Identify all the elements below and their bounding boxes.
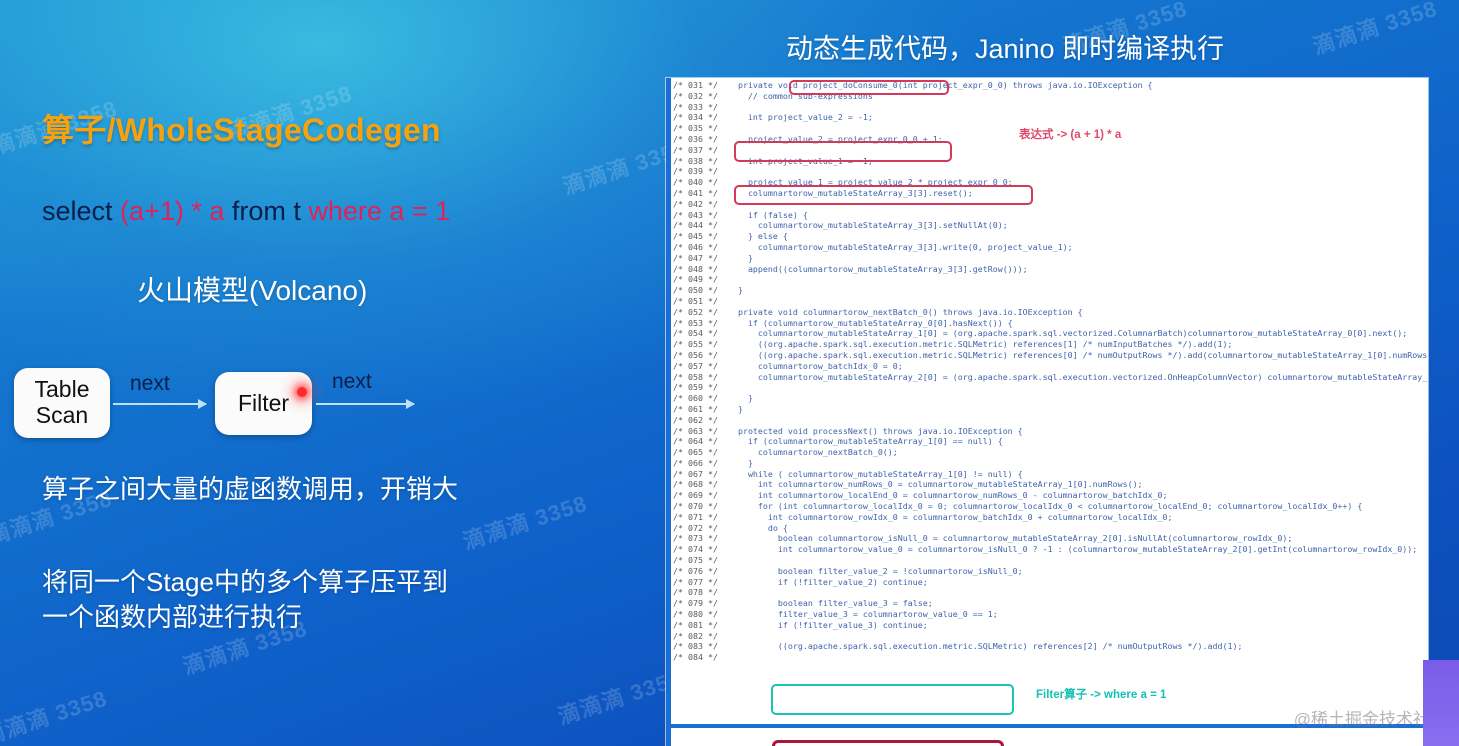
code-line: /* 082 */ <box>673 631 1428 642</box>
code-line-number: /* 035 */ <box>673 123 718 133</box>
code-line: /* 075 */ <box>673 555 1428 566</box>
generated-code-panel[interactable]: /* 031 */ private void project_doConsume… <box>666 78 1428 746</box>
code-line: /* 044 */ columnartorow_mutableStateArra… <box>673 220 1428 231</box>
code-line-number: /* 058 */ <box>673 372 718 382</box>
code-line-number: /* 073 */ <box>673 533 718 543</box>
code-line: /* 057 */ columnartorow_batchIdx_0 = 0; <box>673 361 1428 372</box>
code-line-number: /* 068 */ <box>673 479 718 489</box>
code-line: /* 069 */ int columnartorow_localEnd_0 =… <box>673 490 1428 501</box>
code-line-number: /* 080 */ <box>673 609 718 619</box>
code-line-number: /* 082 */ <box>673 631 718 641</box>
code-line: /* 080 */ filter_value_3 = columnartorow… <box>673 609 1428 620</box>
code-line-number: /* 062 */ <box>673 415 718 425</box>
code-line-text: boolean filter_value_3 = false; <box>718 598 933 608</box>
code-line-text: columnartorow_mutableStateArray_1[0] = (… <box>718 328 1407 338</box>
code-line-number: /* 067 */ <box>673 469 718 479</box>
code-line: /* 068 */ int columnartorow_numRows_0 = … <box>673 479 1428 490</box>
code-line: /* 071 */ int columnartorow_rowIdx_0 = c… <box>673 512 1428 523</box>
code-line: /* 055 */ ((org.apache.spark.sql.executi… <box>673 339 1428 350</box>
code-line-number: /* 066 */ <box>673 458 718 468</box>
code-line-text: columnartorow_mutableStateArray_2[0] = (… <box>718 372 1428 382</box>
code-line-number: /* 046 */ <box>673 242 718 252</box>
code-line-number: /* 031 */ <box>673 80 718 90</box>
code-line-number: /* 064 */ <box>673 436 718 446</box>
code-line-number: /* 081 */ <box>673 620 718 630</box>
right-panel-title: 动态生成代码，Janino 即时编译执行 <box>786 27 1224 66</box>
watermark: 滴滴滴 3358 <box>1308 0 1441 61</box>
code-line-number: /* 069 */ <box>673 490 718 500</box>
code-line-number: /* 079 */ <box>673 598 718 608</box>
code-listing: /* 031 */ private void project_doConsume… <box>673 80 1428 746</box>
code-line-text: } <box>718 253 753 263</box>
code-line: /* 031 */ private void project_doConsume… <box>673 80 1428 91</box>
code-line: /* 072 */ do { <box>673 523 1428 534</box>
code-line-number: /* 049 */ <box>673 274 718 284</box>
code-line-text: ((org.apache.spark.sql.execution.metric.… <box>718 641 1243 651</box>
code-line-number: /* 034 */ <box>673 112 718 122</box>
code-line: /* 056 */ ((org.apache.spark.sql.executi… <box>673 350 1428 361</box>
code-line-number: /* 054 */ <box>673 328 718 338</box>
code-line-number: /* 060 */ <box>673 393 718 403</box>
code-line: /* 058 */ columnartorow_mutableStateArra… <box>673 372 1428 383</box>
code-line-text: ((org.apache.spark.sql.execution.metric.… <box>718 339 1233 349</box>
code-line-text: columnartorow_mutableStateArray_3[3].set… <box>718 220 1008 230</box>
code-line: /* 064 */ if (columnartorow_mutableState… <box>673 436 1428 447</box>
code-line: /* 061 */ } <box>673 404 1428 415</box>
code-line: /* 077 */ if (!filter_value_2) continue; <box>673 577 1428 588</box>
code-line-text: } <box>718 285 743 295</box>
code-line-number: /* 059 */ <box>673 382 718 392</box>
code-line: /* 046 */ columnartorow_mutableStateArra… <box>673 242 1428 253</box>
code-line-text: append((columnartorow_mutableStateArray_… <box>718 264 1028 274</box>
sql-where-clause: where a = 1 <box>308 196 450 226</box>
sql-from-clause: from t <box>224 196 308 226</box>
code-line-number: /* 041 */ <box>673 188 718 198</box>
code-line-text: boolean filter_value_2 = !columnartorow_… <box>718 566 1023 576</box>
laser-pointer-dot <box>297 387 307 397</box>
code-line-number: /* 076 */ <box>673 566 718 576</box>
callout-box-bottom-partial <box>772 740 1004 746</box>
code-line-text: while ( columnartorow_mutableStateArray_… <box>718 469 1023 479</box>
expression-annotation: 表达式 -> (a + 1) * a <box>1019 126 1121 142</box>
code-line-number: /* 050 */ <box>673 285 718 295</box>
code-line: /* 079 */ boolean filter_value_3 = false… <box>673 598 1428 609</box>
code-line-number: /* 042 */ <box>673 199 718 209</box>
sql-select-keyword: select <box>42 196 120 226</box>
callout-box-method-signature <box>789 80 949 95</box>
code-line-text: int columnartorow_rowIdx_0 = columnartor… <box>718 512 1173 522</box>
diagram-edge-label-next-2: next <box>332 370 372 394</box>
code-line-number: /* 044 */ <box>673 220 718 230</box>
code-line-text: private void columnartorow_nextBatch_0()… <box>718 307 1083 317</box>
code-line-text: columnartorow_nextBatch_0(); <box>718 447 898 457</box>
code-line: /* 034 */ int project_value_2 = -1; <box>673 112 1428 123</box>
code-line-number: /* 055 */ <box>673 339 718 349</box>
code-line-number: /* 038 */ <box>673 156 718 166</box>
code-line-text: protected void processNext() throws java… <box>718 426 1023 436</box>
code-line-text: boolean columnartorow_isNull_0 = columna… <box>718 533 1292 543</box>
code-line-number: /* 047 */ <box>673 253 718 263</box>
page-title: 算子/WholeStageCodegen <box>42 105 441 151</box>
sql-statement: select (a+1) * a from t where a = 1 <box>42 196 450 227</box>
code-line-text: int columnartorow_localEnd_0 = columnart… <box>718 490 1168 500</box>
code-line-number: /* 037 */ <box>673 145 718 155</box>
code-line-number: /* 083 */ <box>673 641 718 651</box>
left-panel: 算子/WholeStageCodegen select (a+1) * a fr… <box>0 0 660 746</box>
code-line-number: /* 071 */ <box>673 512 718 522</box>
code-line: /* 081 */ if (!filter_value_3) continue; <box>673 620 1428 631</box>
code-line: /* 063 */ protected void processNext() t… <box>673 426 1428 437</box>
code-line: /* 047 */ } <box>673 253 1428 264</box>
code-line-number: /* 057 */ <box>673 361 718 371</box>
code-line-number: /* 075 */ <box>673 555 718 565</box>
code-line-number: /* 040 */ <box>673 177 718 187</box>
code-line-number: /* 077 */ <box>673 577 718 587</box>
code-left-accent-bar <box>666 78 671 746</box>
code-line: /* 065 */ columnartorow_nextBatch_0(); <box>673 447 1428 458</box>
code-line-number: /* 053 */ <box>673 318 718 328</box>
code-line-number: /* 051 */ <box>673 296 718 306</box>
code-line: /* 051 */ <box>673 296 1428 307</box>
code-line: /* 060 */ } <box>673 393 1428 404</box>
code-line: /* 053 */ if (columnartorow_mutableState… <box>673 318 1428 329</box>
code-line-number: /* 070 */ <box>673 501 718 511</box>
code-line-text: if (columnartorow_mutableStateArray_1[0]… <box>718 436 1003 446</box>
diagram-arrow-1 <box>113 403 206 405</box>
code-line-text: if (false) { <box>718 210 808 220</box>
code-line-number: /* 032 */ <box>673 91 718 101</box>
code-line: /* 048 */ append((columnartorow_mutableS… <box>673 264 1428 275</box>
code-line: /* 043 */ if (false) { <box>673 210 1428 221</box>
code-line: /* 033 */ <box>673 102 1428 113</box>
bullet-text-1: 算子之间大量的虚函数调用，开销大 <box>42 472 458 507</box>
code-line: /* 078 */ <box>673 587 1428 598</box>
callout-box-project-value-2 <box>734 141 952 162</box>
code-line: /* 052 */ private void columnartorow_nex… <box>673 307 1428 318</box>
code-line: /* 066 */ } <box>673 458 1428 469</box>
code-line-number: /* 048 */ <box>673 264 718 274</box>
code-line-text: if (columnartorow_mutableStateArray_0[0]… <box>718 318 1013 328</box>
callout-box-filter-value-3 <box>771 684 1014 715</box>
code-line-text: int columnartorow_numRows_0 = columnarto… <box>718 479 1143 489</box>
code-line: /* 074 */ int columnartorow_value_0 = co… <box>673 544 1428 555</box>
code-line: /* 084 */ <box>673 652 1428 663</box>
code-line: /* 073 */ boolean columnartorow_isNull_0… <box>673 533 1428 544</box>
callout-box-project-value-1 <box>734 185 1033 205</box>
code-line-number: /* 056 */ <box>673 350 718 360</box>
code-line: /* 059 */ <box>673 382 1428 393</box>
code-line-text: } <box>718 458 753 468</box>
code-line-text: } <box>718 404 743 414</box>
code-line: /* 062 */ <box>673 415 1428 426</box>
code-line-text: do { <box>718 523 788 533</box>
code-line-text: for (int columnartorow_localIdx_0 = 0; c… <box>718 501 1362 511</box>
code-line-text: } <box>718 393 753 403</box>
code-line: /* 067 */ while ( columnartorow_mutableS… <box>673 469 1428 480</box>
code-line: /* 083 */ ((org.apache.spark.sql.executi… <box>673 641 1428 652</box>
code-line-text: ((org.apache.spark.sql.execution.metric.… <box>718 350 1428 360</box>
code-line: /* 050 */ } <box>673 285 1428 296</box>
bullet-text-2: 将同一个Stage中的多个算子压平到 一个函数内部进行执行 <box>42 565 448 635</box>
code-line-text: } else { <box>718 231 788 241</box>
diagram-arrow-2 <box>316 403 414 405</box>
code-line-number: /* 052 */ <box>673 307 718 317</box>
volcano-model-title: 火山模型(Volcano) <box>137 269 367 309</box>
code-line-text: if (!filter_value_3) continue; <box>718 620 928 630</box>
code-line-text: int columnartorow_value_0 = columnartoro… <box>718 544 1417 554</box>
purple-edge-strip <box>1423 660 1459 746</box>
code-line-number: /* 061 */ <box>673 404 718 414</box>
code-line-number: /* 078 */ <box>673 587 718 597</box>
slide-canvas: 滴滴滴 3358 滴滴滴 3358 滴滴滴 3358 滴滴滴 3358 滴滴滴 … <box>0 0 1459 746</box>
code-line-text: columnartorow_batchIdx_0 = 0; <box>718 361 903 371</box>
code-line: /* 045 */ } else { <box>673 231 1428 242</box>
code-line: /* 032 */ // common sub-expressions <box>673 91 1428 102</box>
code-line-number: /* 039 */ <box>673 166 718 176</box>
code-line-number: /* 065 */ <box>673 447 718 457</box>
code-line-number: /* 043 */ <box>673 210 718 220</box>
code-line-number: /* 084 */ <box>673 652 718 662</box>
diagram-node-table-scan[interactable]: Table Scan <box>14 368 110 438</box>
filter-annotation: Filter算子 -> where a = 1 <box>1036 686 1166 702</box>
sql-expression: (a+1) * a <box>120 196 224 226</box>
volcano-diagram: Table Scan next Filter next <box>0 360 660 455</box>
code-line-text: int project_value_2 = -1; <box>718 112 873 122</box>
diagram-node-filter[interactable]: Filter <box>215 372 312 435</box>
code-line: /* 049 */ <box>673 274 1428 285</box>
code-line-text: columnartorow_mutableStateArray_3[3].wri… <box>718 242 1073 252</box>
code-line-number: /* 045 */ <box>673 231 718 241</box>
code-line-number: /* 063 */ <box>673 426 718 436</box>
code-line: /* 076 */ boolean filter_value_2 = !colu… <box>673 566 1428 577</box>
code-line: /* 054 */ columnartorow_mutableStateArra… <box>673 328 1428 339</box>
code-line-number: /* 036 */ <box>673 134 718 144</box>
code-line: /* 039 */ <box>673 166 1428 177</box>
code-line-number: /* 072 */ <box>673 523 718 533</box>
code-line-number: /* 033 */ <box>673 102 718 112</box>
code-line-text: if (!filter_value_2) continue; <box>718 577 928 587</box>
code-line-number: /* 074 */ <box>673 544 718 554</box>
code-line: /* 070 */ for (int columnartorow_localId… <box>673 501 1428 512</box>
diagram-edge-label-next-1: next <box>130 372 170 396</box>
code-line-text: filter_value_3 = columnartorow_value_0 =… <box>718 609 998 619</box>
